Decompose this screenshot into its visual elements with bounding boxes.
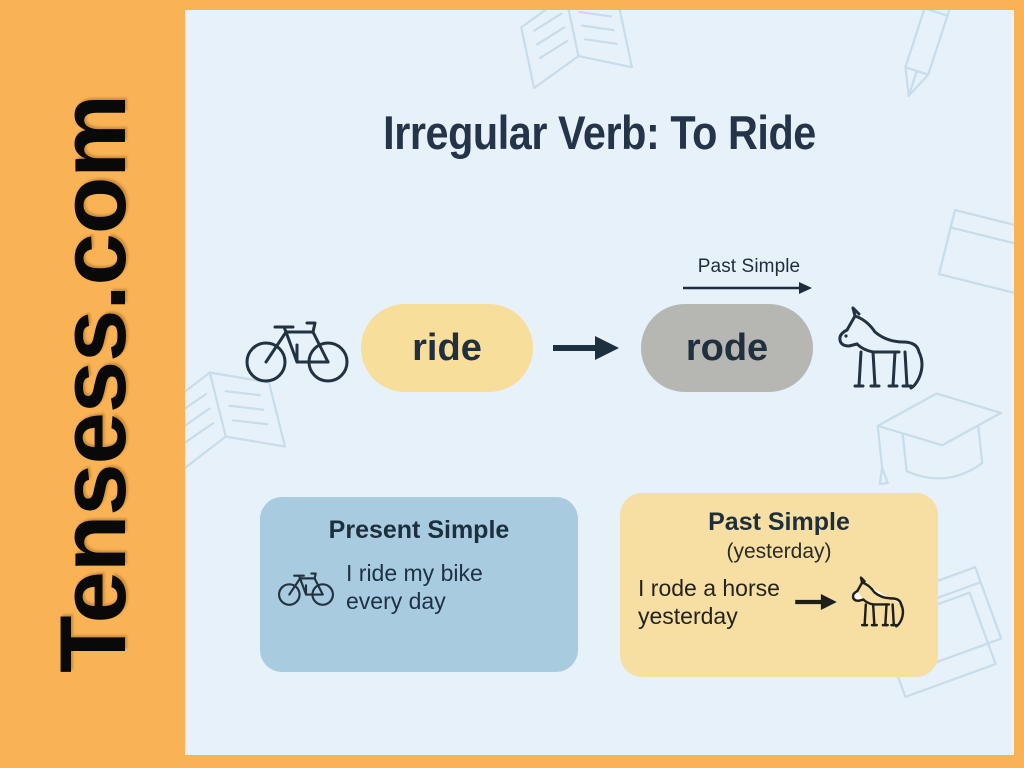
past-simple-card-body: I rode a horse yesterday	[638, 574, 920, 632]
horse-icon	[829, 302, 933, 394]
present-simple-card-body: I ride my bike every day	[278, 559, 560, 617]
past-form-text: rode	[686, 327, 768, 370]
content-panel: Irregular Verb: To Ride Past Simple	[185, 10, 1014, 755]
present-simple-card-heading: Present Simple	[278, 517, 560, 545]
arrow-right-icon	[551, 333, 623, 363]
past-simple-sentence: I rode a horse yesterday	[638, 574, 780, 632]
present-form-text: ride	[412, 327, 482, 370]
present-form-pill: ride	[361, 304, 533, 392]
arrow-right-icon	[794, 592, 838, 612]
past-form-pill: rode	[641, 304, 813, 392]
past-simple-sentence-line1: I rode a horse	[638, 574, 780, 603]
bicycle-icon	[245, 311, 349, 385]
present-simple-card[interactable]: Present Simple I ride my bike every day	[260, 497, 578, 672]
past-simple-card-subheading: (yesterday)	[638, 539, 920, 564]
brand-watermark-strip: Tensess.com	[0, 0, 185, 768]
verb-transformation-row: ride rode	[245, 293, 1005, 403]
past-simple-label-text: Past Simple	[659, 256, 839, 278]
horse-icon	[846, 574, 910, 630]
past-simple-card[interactable]: Past Simple (yesterday) I rode a horse y…	[620, 493, 938, 677]
page-title: Irregular Verb: To Ride	[235, 105, 965, 160]
verb-change-arrow	[551, 333, 623, 363]
brand-watermark-text: Tensess.com	[39, 95, 147, 673]
past-simple-transition-label: Past Simple	[659, 256, 839, 296]
slide-canvas: Tensess.com	[0, 0, 1024, 768]
bicycle-icon	[278, 567, 334, 607]
past-simple-card-heading: Past Simple	[638, 509, 920, 537]
present-simple-sentence: I ride my bike every day	[346, 559, 483, 617]
present-simple-sentence-line2: every day	[346, 587, 483, 616]
past-simple-sentence-line2: yesterday	[638, 602, 780, 631]
present-simple-sentence-line1: I ride my bike	[346, 559, 483, 588]
